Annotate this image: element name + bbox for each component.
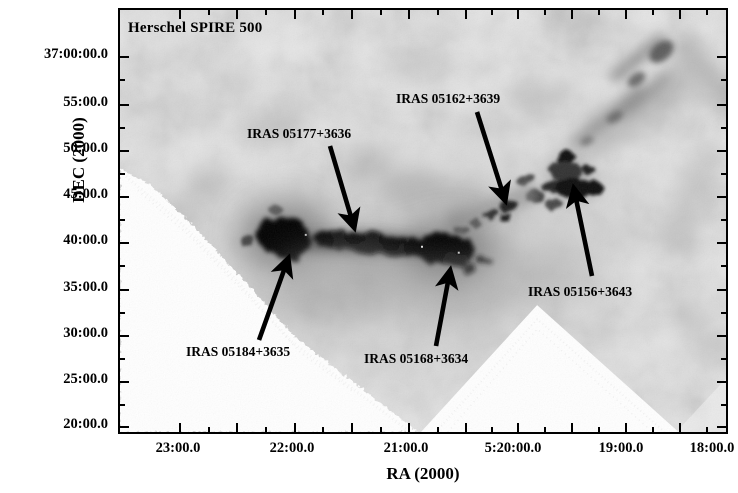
y-tick-major-right bbox=[717, 381, 726, 383]
x-tick-major-top bbox=[351, 10, 353, 19]
x-tick-major-top bbox=[517, 10, 519, 19]
x-tick-minor bbox=[322, 427, 324, 432]
x-tick-major bbox=[517, 423, 519, 432]
x-tick-major-top bbox=[679, 10, 681, 19]
x-tick-major-top bbox=[465, 10, 467, 19]
x-tick-minor-top bbox=[437, 10, 439, 15]
sky-image-panel bbox=[118, 8, 728, 434]
x-tick-minor bbox=[491, 427, 493, 432]
x-tick-label: 18:00.0 bbox=[690, 440, 735, 457]
y-tick-major bbox=[120, 150, 129, 152]
x-tick-major-top bbox=[571, 10, 573, 19]
y-tick-minor-right bbox=[721, 79, 726, 81]
y-tick-minor bbox=[120, 358, 125, 360]
x-tick-minor bbox=[706, 427, 708, 432]
y-tick-label: 37:00:00.0 bbox=[44, 46, 108, 63]
y-tick-major bbox=[120, 196, 129, 198]
x-tick-label: 19:00.0 bbox=[599, 440, 644, 457]
x-tick-minor bbox=[265, 427, 267, 432]
x-tick-minor bbox=[598, 427, 600, 432]
x-tick-major bbox=[236, 423, 238, 432]
y-tick-label: 20:00.0 bbox=[63, 416, 108, 433]
x-tick-major-top bbox=[179, 10, 181, 19]
y-tick-minor-right bbox=[721, 358, 726, 360]
y-tick-minor bbox=[120, 127, 125, 129]
x-tick-label: 23:00.0 bbox=[156, 440, 201, 457]
y-tick-major-right bbox=[717, 196, 726, 198]
y-tick-major-right bbox=[717, 104, 726, 106]
y-tick-minor-right bbox=[721, 265, 726, 267]
x-tick-major bbox=[408, 423, 410, 432]
x-tick-minor-top bbox=[544, 10, 546, 15]
x-tick-minor bbox=[544, 427, 546, 432]
x-tick-major bbox=[625, 423, 627, 432]
y-tick-major bbox=[120, 56, 129, 58]
x-tick-minor-top bbox=[380, 10, 382, 15]
x-tick-major bbox=[465, 423, 467, 432]
y-tick-minor-right bbox=[721, 173, 726, 175]
x-tick-label: 21:00.0 bbox=[384, 440, 429, 457]
x-tick-minor-top bbox=[265, 10, 267, 15]
x-tick-major-top bbox=[408, 10, 410, 19]
x-tick-major bbox=[679, 423, 681, 432]
y-tick-minor-right bbox=[721, 404, 726, 406]
y-tick-major bbox=[120, 289, 129, 291]
x-tick-minor-top bbox=[322, 10, 324, 15]
x-tick-major bbox=[179, 423, 181, 432]
y-tick-major bbox=[120, 335, 129, 337]
y-tick-major-right bbox=[717, 289, 726, 291]
y-tick-minor bbox=[120, 404, 125, 406]
y-tick-major-right bbox=[717, 56, 726, 58]
y-tick-major bbox=[120, 104, 129, 106]
x-axis-title: RA (2000) bbox=[118, 464, 728, 484]
x-tick-minor-top bbox=[652, 10, 654, 15]
y-tick-major bbox=[120, 426, 129, 428]
panel-title: Herschel SPIRE 500 bbox=[128, 20, 262, 37]
x-tick-minor bbox=[380, 427, 382, 432]
y-tick-major-right bbox=[717, 335, 726, 337]
annotation-label-iras-05156-3643: IRAS 05156+3643 bbox=[528, 284, 632, 300]
annotation-label-iras-05168-3634: IRAS 05168+3634 bbox=[364, 351, 468, 367]
y-tick-minor-right bbox=[721, 219, 726, 221]
y-tick-label: 25:00.0 bbox=[63, 371, 108, 388]
y-tick-major-right bbox=[717, 242, 726, 244]
annotation-label-iras-05184-3635: IRAS 05184+3635 bbox=[186, 344, 290, 360]
x-tick-minor-top bbox=[706, 10, 708, 15]
x-tick-minor-top bbox=[598, 10, 600, 15]
x-tick-label: 5:20:00.0 bbox=[485, 440, 542, 457]
x-tick-major-top bbox=[236, 10, 238, 19]
x-tick-minor bbox=[652, 427, 654, 432]
x-tick-minor bbox=[437, 427, 439, 432]
x-tick-major-top bbox=[625, 10, 627, 19]
annotation-label-iras-05162-3639: IRAS 05162+3639 bbox=[396, 91, 500, 107]
x-tick-label: 22:00.0 bbox=[270, 440, 315, 457]
y-tick-major bbox=[120, 242, 129, 244]
y-tick-label: 30:00.0 bbox=[63, 325, 108, 342]
y-tick-label: 35:00.0 bbox=[63, 279, 108, 296]
x-tick-minor-top bbox=[208, 10, 210, 15]
y-tick-minor bbox=[120, 173, 125, 175]
x-tick-minor bbox=[208, 427, 210, 432]
y-tick-major bbox=[120, 381, 129, 383]
figure-root: Herschel SPIRE 500 37:00:00.0 55:00.0 50… bbox=[0, 0, 738, 493]
y-axis-title: DEC (2000) bbox=[69, 75, 89, 245]
x-tick-major bbox=[294, 423, 296, 432]
y-tick-minor bbox=[120, 265, 125, 267]
x-tick-major bbox=[571, 423, 573, 432]
y-tick-minor-right bbox=[721, 127, 726, 129]
herschel-spire-500-map bbox=[120, 10, 726, 432]
x-tick-minor-top bbox=[491, 10, 493, 15]
x-tick-major-top bbox=[294, 10, 296, 19]
y-tick-major-right bbox=[717, 150, 726, 152]
y-tick-minor bbox=[120, 79, 125, 81]
annotation-label-iras-05177-3636: IRAS 05177+3636 bbox=[247, 126, 351, 142]
x-tick-major bbox=[351, 423, 353, 432]
y-tick-minor-right bbox=[721, 312, 726, 314]
y-tick-minor bbox=[120, 219, 125, 221]
y-tick-major-right bbox=[717, 426, 726, 428]
y-tick-minor bbox=[120, 312, 125, 314]
